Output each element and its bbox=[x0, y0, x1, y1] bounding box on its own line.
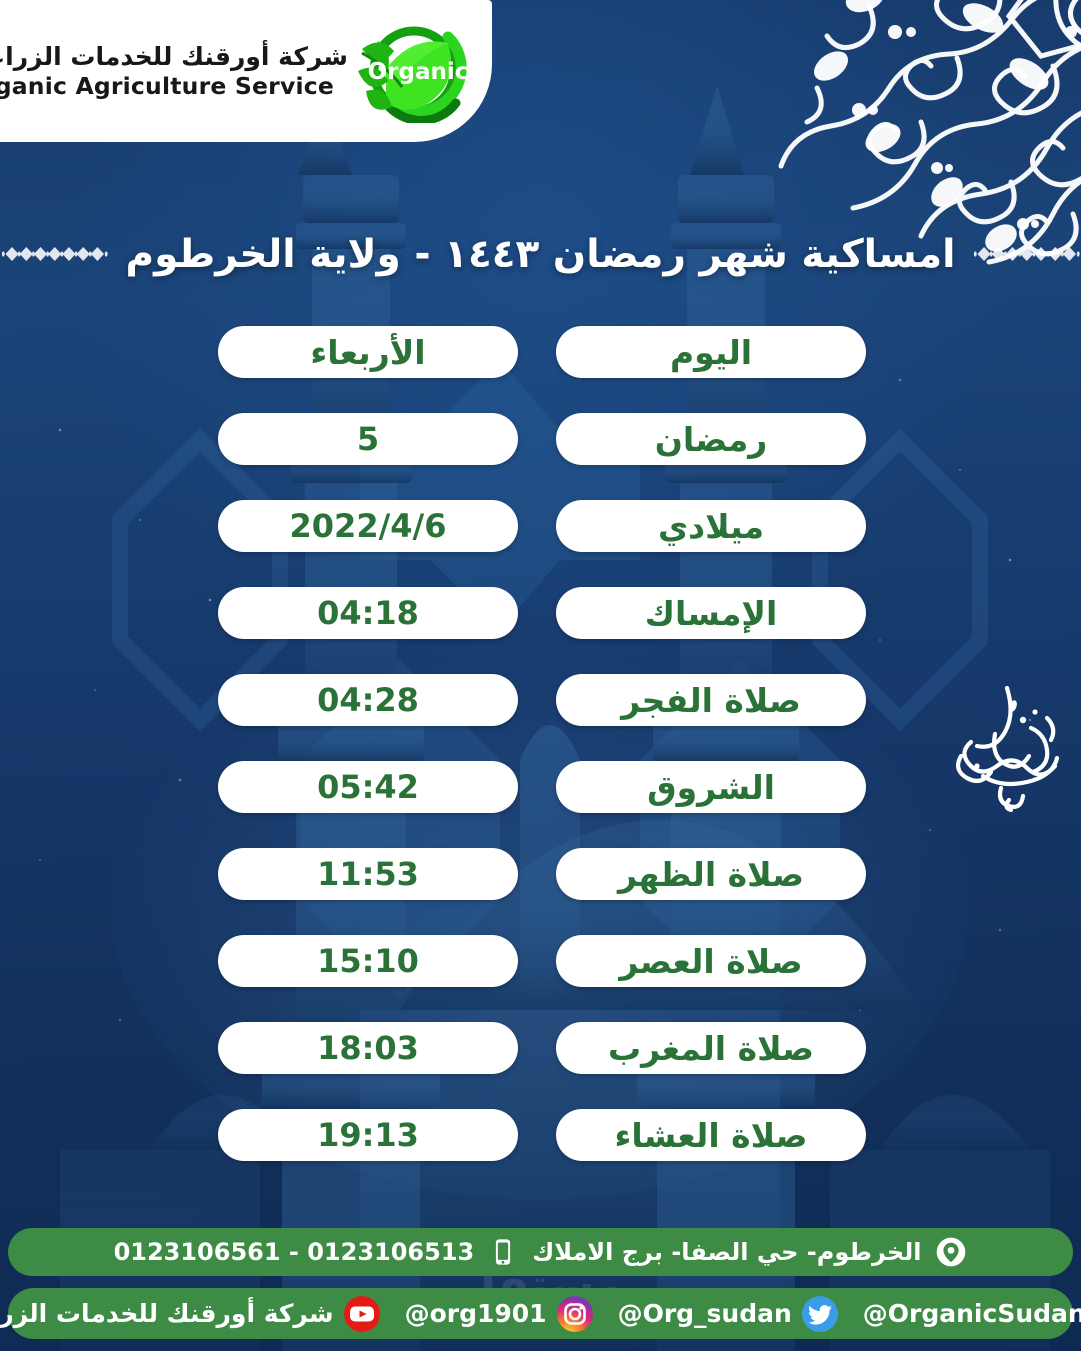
row-value-text: 04:18 bbox=[317, 597, 419, 629]
social-link-twitter[interactable]: @Org_sudan bbox=[611, 1295, 846, 1333]
row-value-pill: 19:13 bbox=[218, 1109, 518, 1161]
location-pin-icon bbox=[935, 1236, 967, 1268]
row-value-text: 2022/4/6 bbox=[290, 510, 447, 542]
row-value-text: 05:42 bbox=[317, 771, 419, 803]
row-label-text: صلاة العشاء bbox=[614, 1119, 807, 1152]
row-label-text: اليوم bbox=[670, 336, 752, 369]
svg-text:Organic: Organic bbox=[368, 59, 469, 85]
table-row: اليومالأربعاء bbox=[0, 326, 1081, 378]
row-value-text: 19:13 bbox=[317, 1119, 419, 1151]
row-value-pill: 05:42 bbox=[218, 761, 518, 813]
contact-address: الخرطوم- حي الصفا- برج الاملاك bbox=[532, 1238, 921, 1266]
row-label-pill: اليوم bbox=[556, 326, 866, 378]
row-value-pill: 2022/4/6 bbox=[218, 500, 518, 552]
row-value-text: 15:10 bbox=[317, 945, 419, 977]
row-label-pill: ميلادي bbox=[556, 500, 866, 552]
row-label-pill: الشروق bbox=[556, 761, 866, 813]
social-link-instagram[interactable]: @org1901 bbox=[398, 1295, 601, 1333]
table-row: الشروق05:42 bbox=[0, 761, 1081, 813]
contact-bar: الخرطوم- حي الصفا- برج الاملاك 012310656… bbox=[8, 1228, 1073, 1276]
contact-phones: 0123106561 - 0123106513 bbox=[114, 1238, 475, 1266]
row-label-pill: الإمساك bbox=[556, 587, 866, 639]
row-label-text: رمضان bbox=[655, 423, 768, 456]
diamond-chain-ornament bbox=[0, 243, 109, 265]
row-label-text: صلاة المغرب bbox=[608, 1032, 814, 1065]
poster-title-row: امساكية شهر رمضان ١٤٤٣ - ولاية الخرطوم bbox=[0, 222, 1081, 286]
row-label-text: الإمساك bbox=[645, 597, 778, 630]
page-title: امساكية شهر رمضان ١٤٤٣ - ولاية الخرطوم bbox=[109, 232, 971, 277]
row-value-pill: الأربعاء bbox=[218, 326, 518, 378]
row-value-pill: 04:28 bbox=[218, 674, 518, 726]
row-value-pill: 04:18 bbox=[218, 587, 518, 639]
row-value-text: 5 bbox=[357, 423, 379, 455]
social-handle: @org1901 bbox=[405, 1299, 547, 1328]
row-value-text: 11:53 bbox=[317, 858, 419, 890]
row-label-text: صلاة الفجر bbox=[621, 684, 801, 717]
prayer-times-table: اليومالأربعاءرمضان5ميلادي2022/4/6الإمساك… bbox=[0, 326, 1081, 1196]
social-link-youtube[interactable]: شركة أورقنك للخدمات الزراعية bbox=[0, 1295, 388, 1333]
table-row: ميلادي2022/4/6 bbox=[0, 500, 1081, 552]
table-row: صلاة الظهر11:53 bbox=[0, 848, 1081, 900]
table-row: الإمساك04:18 bbox=[0, 587, 1081, 639]
social-handle: شركة أورقنك للخدمات الزراعية bbox=[0, 1299, 334, 1328]
social-link-facebook[interactable]: @OrganicSudan bbox=[856, 1295, 1081, 1333]
diamond-chain-ornament bbox=[972, 243, 1081, 265]
social-handle: @Org_sudan bbox=[618, 1299, 792, 1328]
row-label-text: ميلادي bbox=[658, 510, 764, 543]
table-row: رمضان5 bbox=[0, 413, 1081, 465]
social-handle: @OrganicSudan bbox=[863, 1299, 1081, 1328]
row-label-text: الشروق bbox=[647, 771, 775, 804]
row-value-pill: 11:53 bbox=[218, 848, 518, 900]
row-value-pill: 5 bbox=[218, 413, 518, 465]
mobile-phone-icon bbox=[488, 1235, 518, 1269]
row-label-text: صلاة الظهر bbox=[618, 858, 804, 891]
brand-header-panel: Organic شركة أورقنك للخدمات الزراعية Org… bbox=[0, 0, 492, 142]
row-value-pill: 18:03 bbox=[218, 1022, 518, 1074]
row-label-pill: رمضان bbox=[556, 413, 866, 465]
row-label-pill: صلاة المغرب bbox=[556, 1022, 866, 1074]
table-row: صلاة العشاء19:13 bbox=[0, 1109, 1081, 1161]
row-value-text: 18:03 bbox=[317, 1032, 419, 1064]
row-label-pill: صلاة الفجر bbox=[556, 674, 866, 726]
row-value-text: الأربعاء bbox=[310, 336, 425, 369]
row-value-text: 04:28 bbox=[317, 684, 419, 716]
twitter-icon[interactable] bbox=[801, 1295, 839, 1333]
table-row: صلاة المغرب18:03 bbox=[0, 1022, 1081, 1074]
youtube-icon[interactable] bbox=[343, 1295, 381, 1333]
social-bar: @OrganicSudan@Org_sudan@org1901شركة أورق… bbox=[8, 1288, 1073, 1339]
row-label-pill: صلاة العصر bbox=[556, 935, 866, 987]
ramadan-timetable-poster: Organic شركة أورقنك للخدمات الزراعية Org… bbox=[0, 0, 1081, 1351]
row-value-pill: 15:10 bbox=[218, 935, 518, 987]
organic-leaf-logo: Organic bbox=[356, 19, 474, 123]
row-label-pill: صلاة الظهر bbox=[556, 848, 866, 900]
row-label-pill: صلاة العشاء bbox=[556, 1109, 866, 1161]
brand-name-arabic: شركة أورقنك للخدمات الزراعية bbox=[0, 41, 348, 72]
table-row: صلاة الفجر04:28 bbox=[0, 674, 1081, 726]
instagram-icon[interactable] bbox=[556, 1295, 594, 1333]
table-row: صلاة العصر15:10 bbox=[0, 935, 1081, 987]
row-label-text: صلاة العصر bbox=[619, 945, 802, 978]
brand-name-english: Organic Agriculture Service bbox=[0, 72, 348, 101]
